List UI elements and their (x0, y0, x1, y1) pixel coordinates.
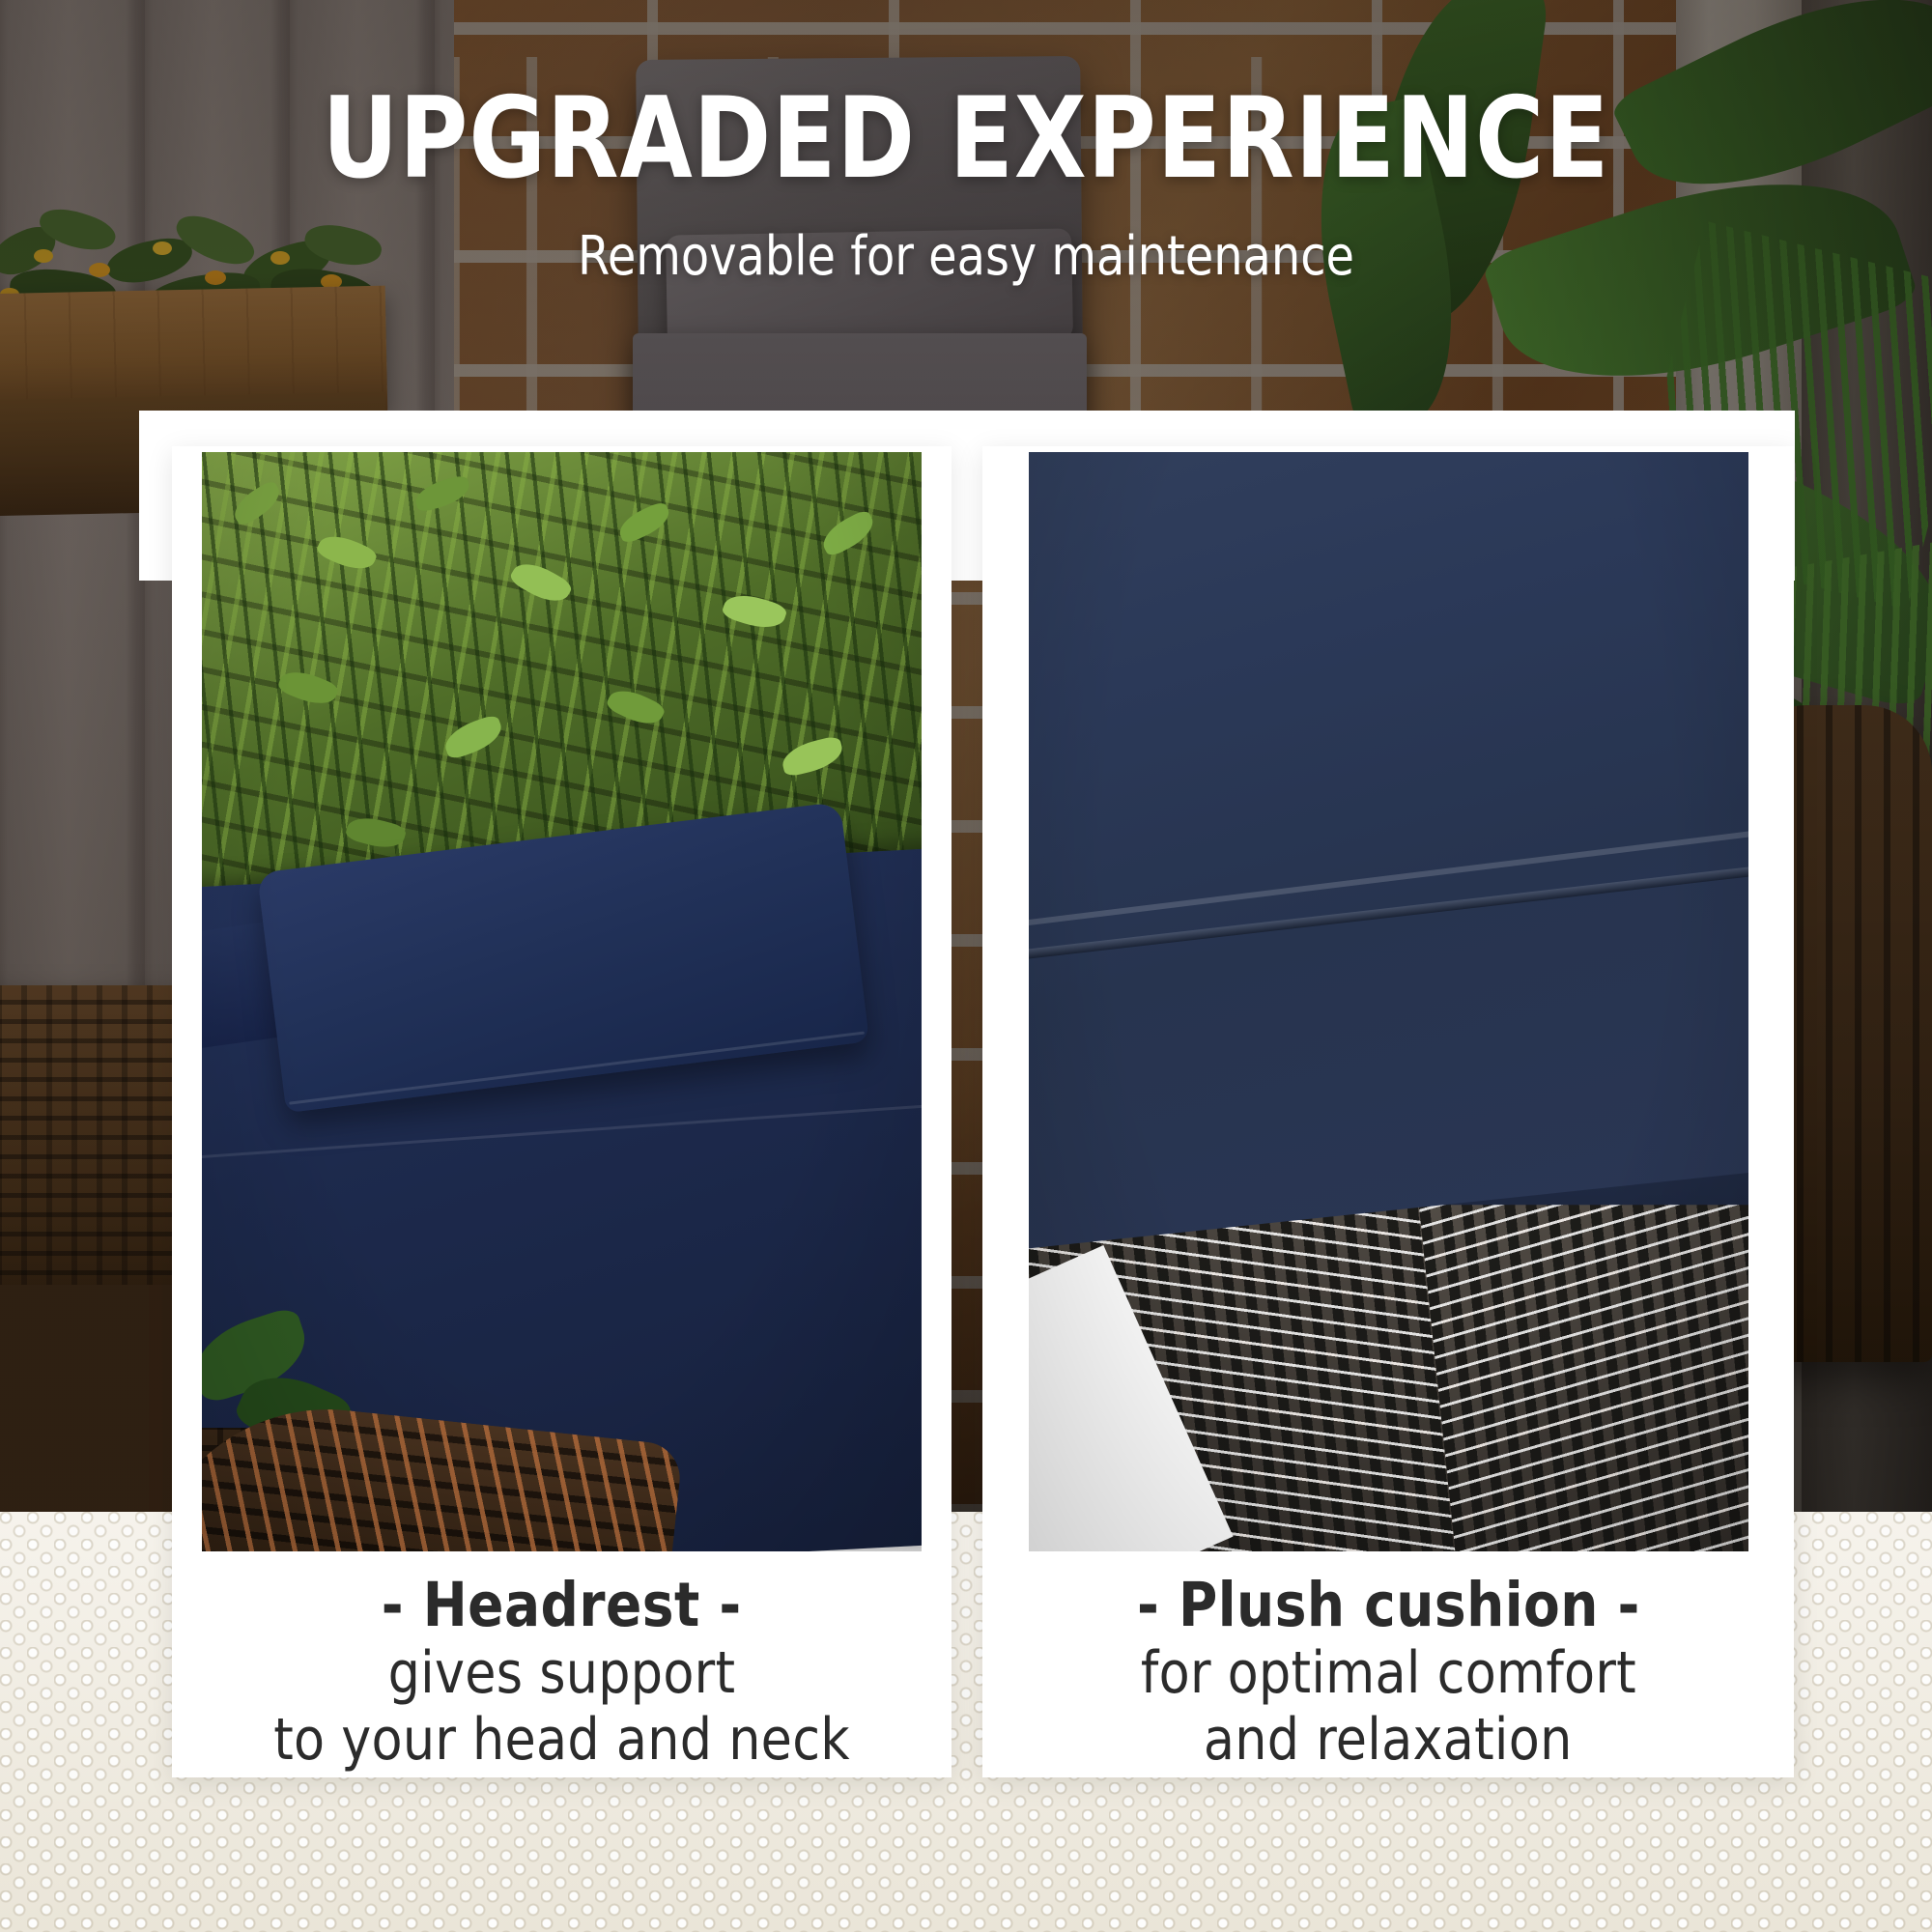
feature-card-headrest: - Headrest - gives support to your head … (172, 446, 952, 1777)
marketing-image-stage: UPGRADED EXPERIENCE Removable for easy m… (0, 0, 1932, 1932)
navy-cushion-top (1029, 452, 1748, 1258)
headrest-caption: - Headrest - gives support to your head … (172, 1551, 952, 1777)
feature-card-plush-cushion: - Plush cushion - for optimal comfort an… (982, 446, 1794, 1777)
header: UPGRADED EXPERIENCE Removable for easy m… (0, 0, 1932, 284)
plush-cushion-caption: - Plush cushion - for optimal comfort an… (982, 1551, 1794, 1777)
caption-title: - Headrest - (382, 1573, 742, 1638)
page-subtitle: Removable for easy maintenance (48, 195, 1884, 284)
caption-line-1: for optimal comfort (1140, 1642, 1635, 1705)
page-title: UPGRADED EXPERIENCE (68, 0, 1864, 195)
caption-line-2: to your head and neck (273, 1709, 850, 1772)
caption-line-2: and relaxation (1204, 1709, 1573, 1772)
caption-line-1: gives support (388, 1642, 736, 1705)
plush-cushion-photo (1029, 452, 1748, 1551)
feature-cards: - Headrest - gives support to your head … (0, 0, 1932, 1932)
headrest-photo (202, 452, 922, 1551)
caption-title: - Plush cushion - (1137, 1573, 1640, 1638)
